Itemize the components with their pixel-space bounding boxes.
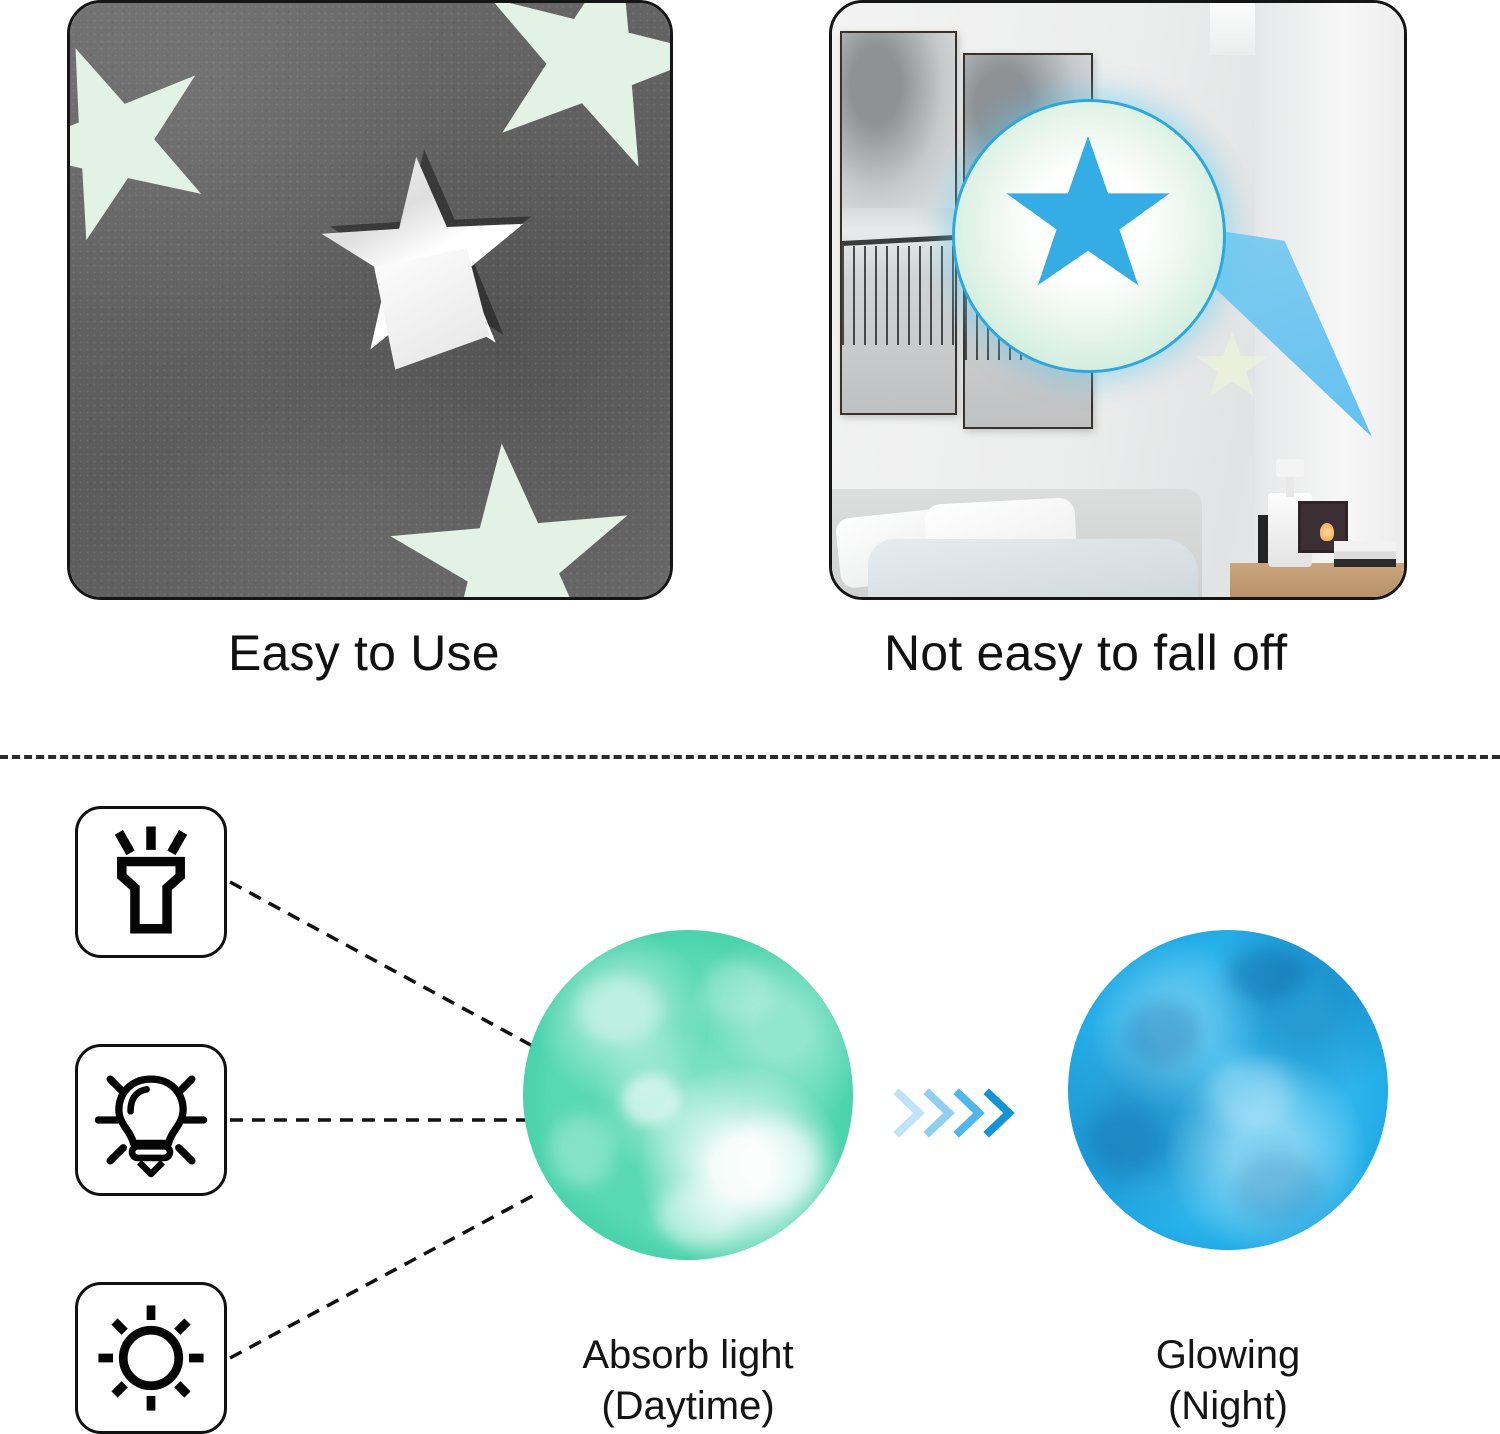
- caption-glowing-line2: (Night): [1068, 1381, 1388, 1432]
- section-divider: [0, 755, 1500, 759]
- flashlight-icon: [78, 809, 224, 955]
- crater: [1087, 1103, 1164, 1180]
- moon-absorb-light: [523, 930, 853, 1260]
- light-source-flashlight[interactable]: [75, 806, 227, 958]
- candle-icon: [1320, 523, 1334, 541]
- pier-pilings: [842, 246, 955, 345]
- caption-glowing: Glowing (Night): [1068, 1330, 1388, 1432]
- crater: [1209, 1058, 1292, 1128]
- lamp-top: [1276, 459, 1304, 477]
- crater: [622, 1075, 681, 1125]
- light-bulb-icon: [78, 1047, 224, 1193]
- pier-photo-left: [842, 33, 955, 413]
- blue-star-icon: [1003, 136, 1173, 300]
- connector-flashlight-to-moon: [230, 882, 540, 1050]
- crater: [549, 1115, 615, 1188]
- chevron-2-icon: [929, 1094, 949, 1132]
- panel-easy-to-use: [67, 0, 673, 600]
- caption-absorb-line1: Absorb light: [528, 1330, 848, 1381]
- pier-deck: [842, 235, 955, 246]
- panel-not-easy-to-fall-off: [829, 0, 1407, 600]
- crater: [576, 976, 662, 1042]
- crater: [701, 963, 774, 1022]
- caption-absorb-line2: (Daytime): [528, 1381, 848, 1432]
- crater: [1234, 1154, 1324, 1224]
- chevron-3-icon: [959, 1094, 979, 1132]
- crater: [655, 1187, 741, 1246]
- crater: [1228, 949, 1305, 1000]
- duvet: [868, 539, 1198, 600]
- moon-glowing: [1068, 930, 1388, 1250]
- crater: [1126, 1000, 1203, 1064]
- stacked-books: [1334, 541, 1396, 567]
- transition-arrows: [893, 1082, 1023, 1144]
- chevron-4-icon: [989, 1094, 1009, 1132]
- crater: [721, 1121, 820, 1207]
- connector-sun-to-moon: [230, 1192, 540, 1358]
- light-source-bulb[interactable]: [75, 1044, 227, 1196]
- wall-art-left: [840, 31, 957, 415]
- nightstand: [1230, 563, 1407, 597]
- caption-absorb-light: Absorb light (Daytime): [528, 1330, 848, 1432]
- caption-glowing-line1: Glowing: [1068, 1330, 1388, 1381]
- magnifier-bubble: [952, 99, 1226, 373]
- caption-not-easy-to-fall-off: Not easy to fall off: [884, 628, 1287, 678]
- photo-sky: [842, 33, 955, 208]
- chevron-1-icon: [899, 1094, 919, 1132]
- caption-easy-to-use: Easy to Use: [228, 628, 500, 678]
- light-source-sun[interactable]: [75, 1282, 227, 1434]
- sun-icon: [78, 1285, 224, 1431]
- bedroom-background: [832, 3, 1404, 597]
